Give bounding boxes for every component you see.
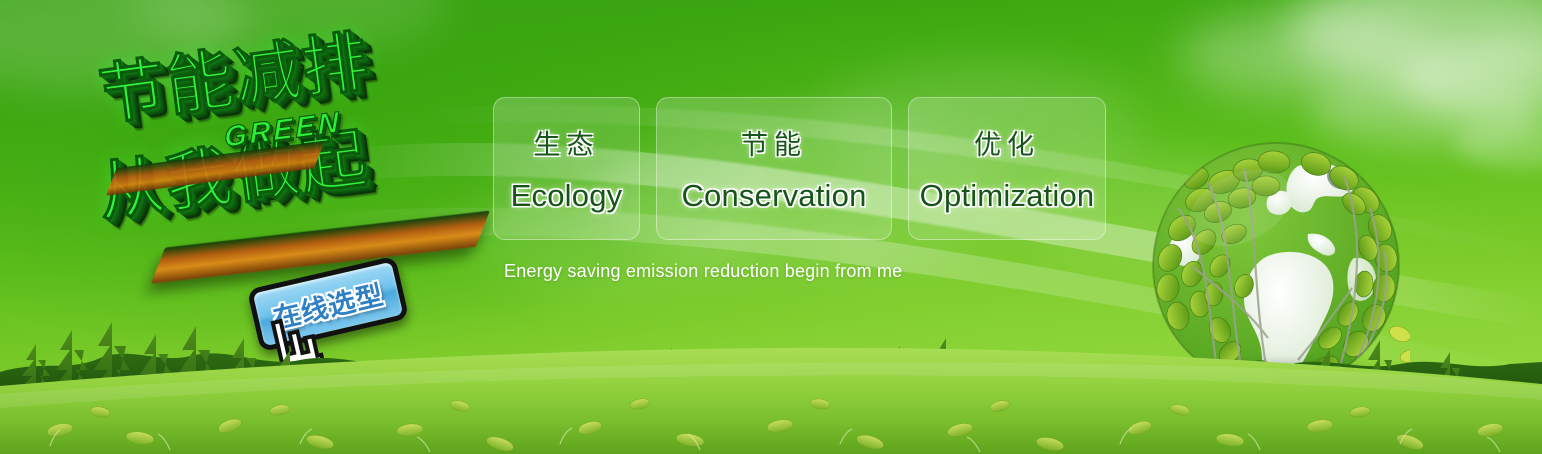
feature-card-en-label: Optimization bbox=[920, 178, 1095, 214]
feature-card-cn-label: 优化 bbox=[974, 123, 1040, 162]
feature-card-en-label: Ecology bbox=[511, 178, 623, 214]
cloud-icon bbox=[1180, 10, 1440, 100]
headline-3d: 节能减排 从我做起 GREEN bbox=[81, 10, 520, 311]
feature-card-optimization[interactable]: 优化 Optimization bbox=[908, 97, 1106, 240]
tagline: Energy saving emission reduction begin f… bbox=[504, 261, 902, 282]
cloud-icon bbox=[1290, 0, 1542, 90]
feature-card-list: 生态 Ecology 节能 Conservation 优化 Optimizati… bbox=[493, 97, 1106, 240]
cloud-icon bbox=[1455, 120, 1542, 168]
feature-card-ecology[interactable]: 生态 Ecology bbox=[493, 97, 640, 240]
feature-card-conservation[interactable]: 节能 Conservation bbox=[656, 97, 892, 240]
cloud-icon bbox=[1400, 40, 1542, 120]
feature-card-en-label: Conservation bbox=[681, 178, 866, 214]
eco-hero-banner: 节能减排 从我做起 GREEN 在线选型 生态 Ecology 节能 Conse… bbox=[0, 0, 1542, 454]
feature-card-cn-label: 节能 bbox=[741, 123, 807, 162]
feature-card-cn-label: 生态 bbox=[534, 123, 600, 162]
grass-field-with-leaves-icon bbox=[0, 334, 1542, 454]
